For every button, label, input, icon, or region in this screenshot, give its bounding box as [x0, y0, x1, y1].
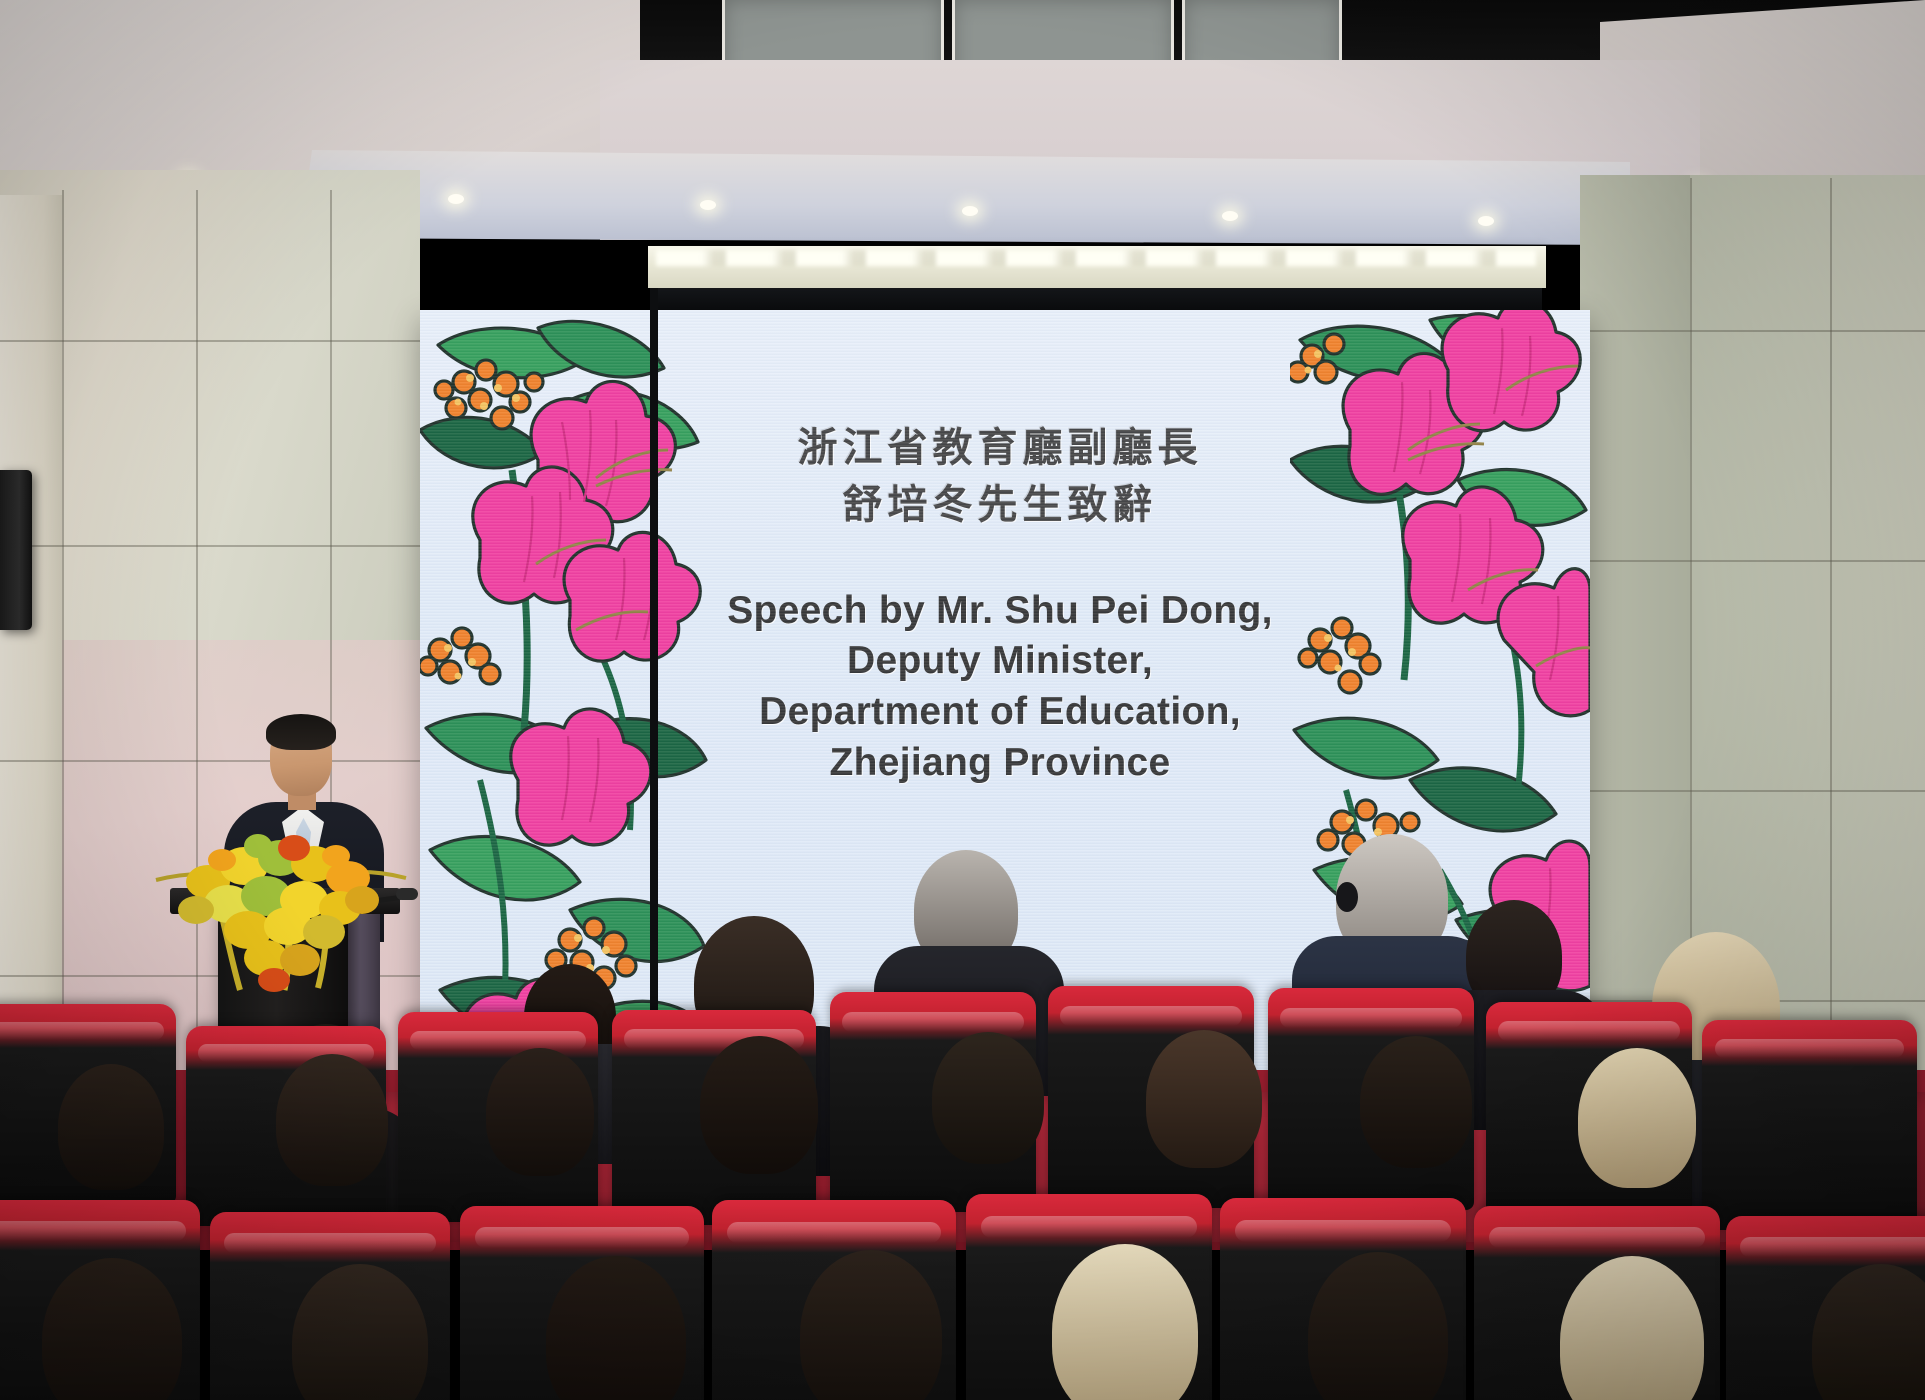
audience-head — [276, 1054, 388, 1186]
ceiling-downlight — [1478, 216, 1494, 226]
valance-light-strip — [656, 250, 1536, 266]
podium-flower-arrangement — [148, 812, 418, 992]
audience-head — [700, 1036, 818, 1174]
slide-chinese-title-line-1: 浙江省教育廳副廳長 — [798, 420, 1203, 477]
slide-english-line-1: Speech by Mr. Shu Pei Dong, — [727, 586, 1273, 637]
audience-head — [58, 1064, 164, 1190]
ceiling-downlight — [700, 200, 716, 210]
speaker-hair — [266, 714, 336, 750]
slide-english-line-3: Department of Education, — [727, 687, 1273, 738]
conference-hall-photo: 浙江省教育廳副廳長 舒培冬先生致辭 Speech by Mr. Shu Pei … — [0, 0, 1925, 1400]
wall-tile-joint — [196, 190, 198, 1170]
wall-tile-joint — [1580, 560, 1925, 562]
screen-top-rail — [650, 288, 1542, 310]
slide-english-line-4: Zhejiang Province — [727, 738, 1273, 789]
audience-chair[interactable] — [1702, 1020, 1917, 1230]
slide-english-line-2: Deputy Minister, — [727, 636, 1273, 687]
wall-mounted-loudspeaker — [0, 470, 32, 630]
ceiling-downlight — [962, 206, 978, 216]
slide-english-block: Speech by Mr. Shu Pei Dong, Deputy Minis… — [727, 586, 1273, 789]
audience-earpiece-icon — [1336, 882, 1358, 912]
audience-head — [932, 1032, 1044, 1164]
ceiling-coffer-band — [300, 150, 1630, 245]
wall-tile-joint — [1580, 330, 1925, 332]
bouquet-illustration — [148, 812, 418, 992]
audience-head-ponytail — [1146, 1030, 1262, 1168]
audience-head-blonde — [1578, 1048, 1696, 1188]
ceiling-downlight — [448, 194, 464, 204]
audience-head — [1360, 1036, 1472, 1168]
audience-head — [486, 1048, 594, 1176]
screen-left-frame — [650, 288, 658, 1078]
audience-seating-area — [0, 1030, 1925, 1400]
ceiling-downlight — [1222, 211, 1238, 221]
wall-tile-joint — [1580, 790, 1925, 792]
slide-chinese-title-line-2: 舒培冬先生致辭 — [843, 477, 1158, 534]
